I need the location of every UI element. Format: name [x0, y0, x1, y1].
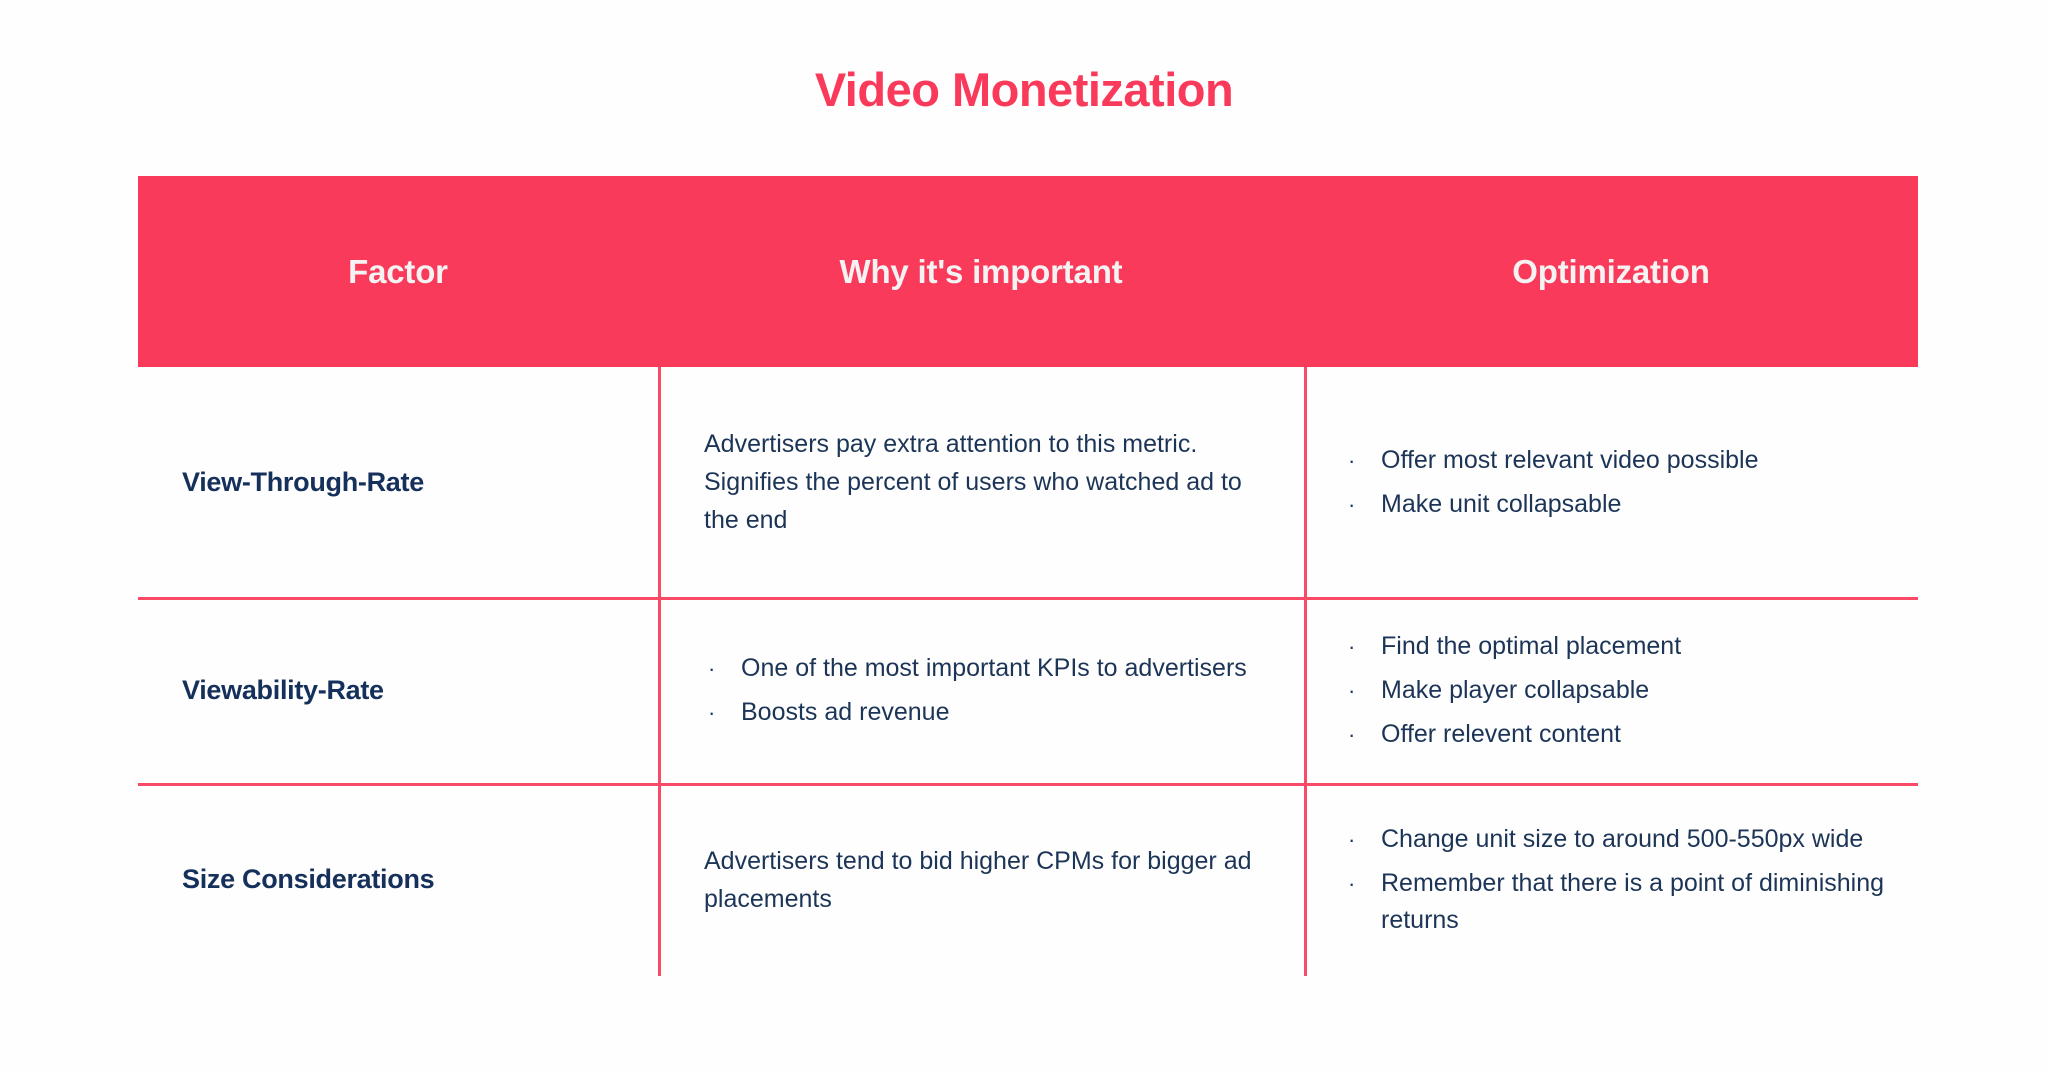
cell-why-important: · One of the most important KPIs to adve…	[658, 597, 1304, 783]
list-item: · Change unit size to around 500-550px w…	[1344, 821, 1908, 858]
cell-optimization: · Find the optimal placement · Make play…	[1304, 597, 1918, 783]
table-row: Viewability-Rate · One of the most impor…	[138, 597, 1918, 783]
comparison-table: Factor Why it's important Optimization V…	[138, 176, 1918, 976]
table-row: View-Through-Rate Advertisers pay extra …	[138, 367, 1918, 597]
bullet-dot-icon: ·	[1348, 672, 1355, 709]
factor-label: View-Through-Rate	[182, 467, 658, 498]
list-item: · Offer relevent content	[1344, 716, 1908, 753]
cell-factor: View-Through-Rate	[138, 367, 658, 597]
table-body: View-Through-Rate Advertisers pay extra …	[138, 367, 1918, 976]
column-divider	[658, 367, 661, 976]
bullet-dot-icon: ·	[1348, 821, 1355, 858]
factor-label: Size Considerations	[182, 864, 658, 895]
bullet-dot-icon: ·	[708, 694, 715, 731]
list-item-label: Make player collapsable	[1381, 676, 1649, 704]
slide-canvas: Video Monetization Factor Why it's impor…	[0, 0, 2048, 1072]
list-item-label: Find the optimal placement	[1381, 632, 1681, 660]
why-paragraph: Advertisers tend to bid higher CPMs for …	[704, 842, 1280, 918]
list-item: · Boosts ad revenue	[704, 694, 1280, 731]
bullet-dot-icon: ·	[1348, 865, 1355, 902]
why-bullet-list: · One of the most important KPIs to adve…	[704, 650, 1280, 731]
list-item: · Offer most relevant video possible	[1344, 442, 1908, 479]
list-item-label: Change unit size to around 500-550px wid…	[1381, 825, 1863, 853]
list-item: · One of the most important KPIs to adve…	[704, 650, 1280, 687]
optimization-bullet-list: · Offer most relevant video possible · M…	[1344, 442, 1908, 523]
column-header-optimization: Optimization	[1304, 176, 1918, 367]
list-item: · Remember that there is a point of dimi…	[1344, 865, 1908, 939]
optimization-bullet-list: · Change unit size to around 500-550px w…	[1344, 821, 1908, 939]
column-divider	[1304, 367, 1307, 976]
cell-why-important: Advertisers tend to bid higher CPMs for …	[658, 783, 1304, 976]
list-item: · Find the optimal placement	[1344, 628, 1908, 665]
list-item-label: Offer most relevant video possible	[1381, 446, 1759, 474]
optimization-bullet-list: · Find the optimal placement · Make play…	[1344, 628, 1908, 753]
cell-factor: Viewability-Rate	[138, 597, 658, 783]
bullet-dot-icon: ·	[1348, 716, 1355, 753]
bullet-dot-icon: ·	[1348, 486, 1355, 523]
row-divider	[138, 597, 1918, 600]
factor-label: Viewability-Rate	[182, 675, 658, 706]
list-item-label: Offer relevent content	[1381, 720, 1621, 748]
why-paragraph: Advertisers pay extra attention to this …	[704, 425, 1280, 539]
table-header-row: Factor Why it's important Optimization	[138, 176, 1918, 367]
list-item: · Make player collapsable	[1344, 672, 1908, 709]
cell-optimization: · Offer most relevant video possible · M…	[1304, 367, 1918, 597]
column-header-why-important: Why it's important	[658, 176, 1304, 367]
list-item-label: One of the most important KPIs to advert…	[741, 654, 1247, 682]
bullet-dot-icon: ·	[1348, 628, 1355, 665]
bullet-dot-icon: ·	[708, 650, 715, 687]
list-item: · Make unit collapsable	[1344, 486, 1908, 523]
table-row: Size Considerations Advertisers tend to …	[138, 783, 1918, 976]
cell-factor: Size Considerations	[138, 783, 658, 976]
bullet-dot-icon: ·	[1348, 442, 1355, 479]
list-item-label: Boosts ad revenue	[741, 698, 949, 726]
column-header-factor: Factor	[138, 176, 658, 367]
list-item-label: Remember that there is a point of dimini…	[1381, 869, 1884, 934]
page-title: Video Monetization	[0, 62, 2048, 117]
cell-why-important: Advertisers pay extra attention to this …	[658, 367, 1304, 597]
row-divider	[138, 783, 1918, 786]
list-item-label: Make unit collapsable	[1381, 490, 1621, 518]
cell-optimization: · Change unit size to around 500-550px w…	[1304, 783, 1918, 976]
